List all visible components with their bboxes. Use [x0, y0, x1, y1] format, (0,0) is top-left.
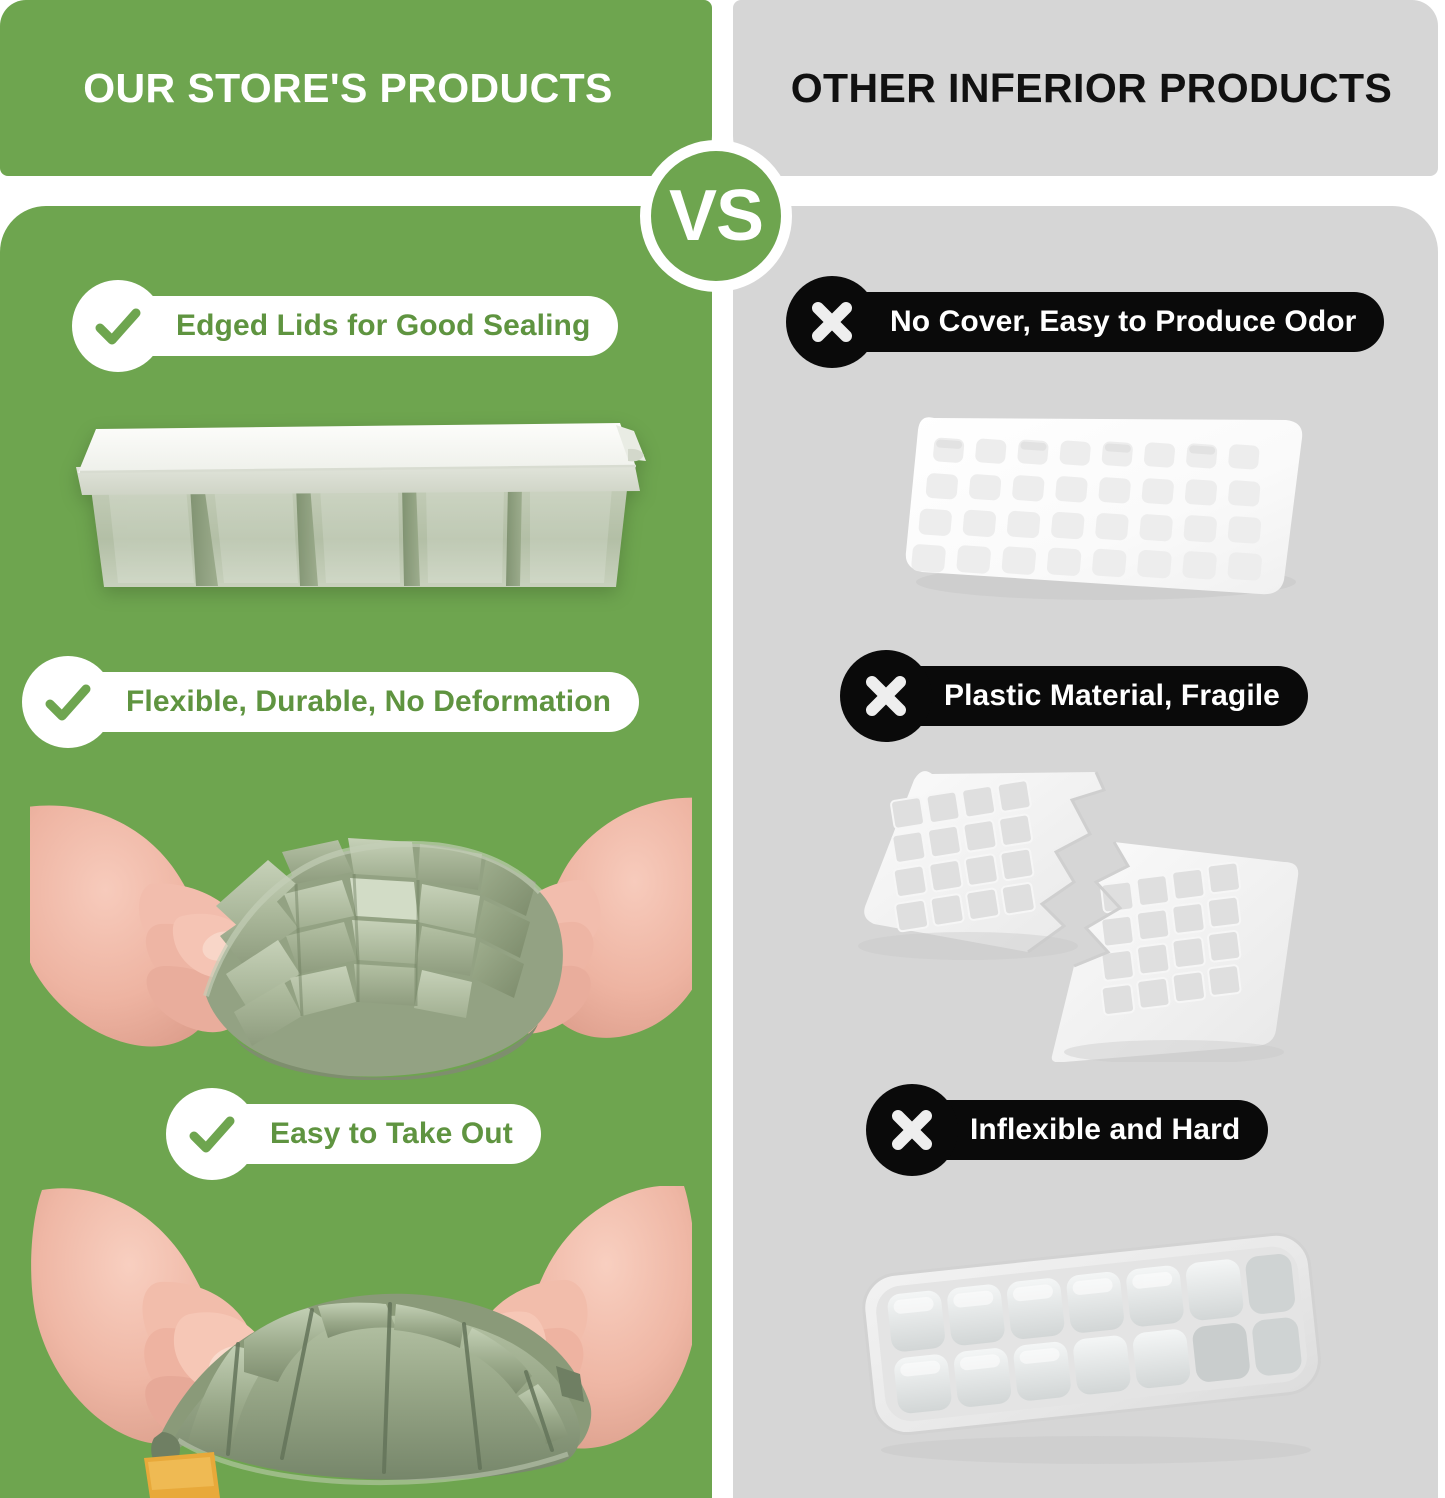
feature-row-left-1: Edged Lids for Good Sealing [72, 296, 618, 356]
vs-badge: VS [640, 140, 792, 292]
feature-row-right-3: Inflexible and Hard [866, 1100, 1268, 1160]
pro-badge-label-3: Easy to Take Out [270, 1117, 513, 1151]
comparison-infographic: OUR STORE'S PRODUCTS OTHER INFERIOR PROD… [0, 0, 1445, 1498]
con-badge-label-2: Plastic Material, Fragile [944, 679, 1280, 713]
pro-badge-label-2: Flexible, Durable, No Deformation [126, 685, 611, 719]
feature-row-right-2: Plastic Material, Fragile [840, 666, 1308, 726]
hands-twisting-flexible-tray [30, 788, 692, 1080]
check-icon [72, 280, 164, 372]
cross-icon [840, 650, 932, 742]
check-icon [22, 656, 114, 748]
pro-badge-pill-2: Flexible, Durable, No Deformation [68, 672, 639, 732]
con-badge-pill-1: No Cover, Easy to Produce Odor [832, 292, 1384, 352]
rigid-gray-ice-tray [846, 1226, 1336, 1466]
green-tray-with-white-lid [68, 415, 658, 615]
header-panel-left: OUR STORE'S PRODUCTS [0, 0, 712, 176]
con-badge-pill-3: Inflexible and Hard [912, 1100, 1268, 1160]
con-badge-pill-2: Plastic Material, Fragile [886, 666, 1308, 726]
pro-badge-label-1: Edged Lids for Good Sealing [176, 309, 590, 343]
left-column-title: OUR STORE'S PRODUCTS [83, 65, 613, 112]
white-uncovered-tray [888, 396, 1318, 604]
feature-row-left-2: Flexible, Durable, No Deformation [22, 672, 639, 732]
pro-badge-pill-1: Edged Lids for Good Sealing [118, 296, 618, 356]
feature-row-right-1: No Cover, Easy to Produce Odor [786, 292, 1384, 352]
vs-badge-label: VS [669, 180, 763, 252]
pro-badge-pill-3: Easy to Take Out [212, 1104, 541, 1164]
con-badge-3: Inflexible and Hard [866, 1100, 1268, 1160]
cross-icon [786, 276, 878, 368]
hands-bending-tray-to-release-cubes [28, 1186, 692, 1498]
broken-plastic-tray [828, 756, 1316, 1062]
pro-badge-2: Flexible, Durable, No Deformation [22, 672, 639, 732]
feature-row-left-3: Easy to Take Out [166, 1104, 541, 1164]
orange-tab [144, 1452, 220, 1498]
con-badge-2: Plastic Material, Fragile [840, 666, 1308, 726]
header-panel-right: OTHER INFERIOR PRODUCTS [733, 0, 1438, 176]
con-badge-1: No Cover, Easy to Produce Odor [786, 292, 1384, 352]
con-badge-label-1: No Cover, Easy to Produce Odor [890, 305, 1356, 339]
pro-badge-1: Edged Lids for Good Sealing [72, 296, 618, 356]
con-badge-label-3: Inflexible and Hard [970, 1113, 1240, 1147]
cross-icon [866, 1084, 958, 1176]
check-icon [166, 1088, 258, 1180]
right-column-title: OTHER INFERIOR PRODUCTS [791, 65, 1392, 112]
pro-badge-3: Easy to Take Out [166, 1104, 541, 1164]
